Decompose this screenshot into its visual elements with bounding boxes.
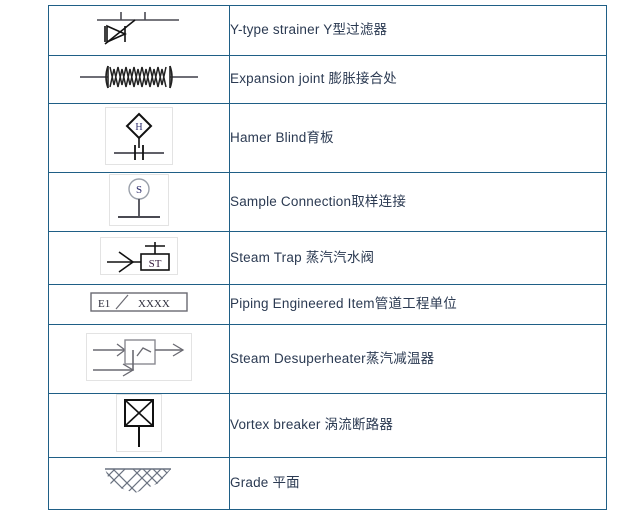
table-row[interactable]: Grade 平面: [49, 458, 607, 510]
row-description: Sample Connection取样连接: [230, 193, 406, 211]
description-cell: Steam Desuperheater蒸汽减温器: [230, 325, 607, 394]
description-cell: Grade 平面: [230, 458, 607, 510]
hamer-blind-symbol: H: [105, 107, 173, 165]
piping-item-label-1: E1: [98, 298, 110, 310]
table-row[interactable]: Y-type strainer Y型过滤器: [49, 6, 607, 56]
row-description: Vortex breaker 涡流断路器: [230, 416, 393, 434]
table-row[interactable]: Expansion joint 膨胀接合处: [49, 56, 607, 104]
symbol-cell: [49, 458, 230, 510]
description-cell: Sample Connection取样连接: [230, 173, 607, 232]
symbol-cell: [49, 394, 230, 458]
grade-symbol: [101, 463, 177, 499]
row-description: Steam Trap 蒸汽汽水阀: [230, 249, 374, 267]
table-row[interactable]: ST Steam Trap 蒸汽汽水阀: [49, 232, 607, 285]
row-description: Expansion joint 膨胀接合处: [230, 70, 397, 88]
legend-table-body: Y-type strainer Y型过滤器: [49, 6, 607, 510]
symbol-cell: [49, 56, 230, 104]
sample-connection-symbol: S: [109, 174, 169, 226]
sample-connection-label: S: [136, 184, 142, 196]
table-row[interactable]: Steam Desuperheater蒸汽减温器: [49, 325, 607, 394]
table-row[interactable]: Vortex breaker 涡流断路器: [49, 394, 607, 458]
description-cell: Hamer Blind育板: [230, 104, 607, 173]
steam-desuperheater-symbol: [86, 333, 192, 381]
symbol-cell: [49, 6, 230, 56]
table-row[interactable]: E1 XXXX Piping Engineered Item管道工程单位: [49, 285, 607, 325]
row-description: Y-type strainer Y型过滤器: [230, 21, 387, 39]
y-type-strainer-symbol: [83, 6, 195, 50]
steam-trap-label: ST: [149, 258, 162, 270]
symbol-cell: S: [49, 173, 230, 232]
piping-item-label-2: XXXX: [138, 298, 170, 310]
vortex-breaker-symbol: [116, 394, 162, 452]
symbol-cell: E1 XXXX: [49, 285, 230, 325]
symbol-cell: H: [49, 104, 230, 173]
description-cell: Vortex breaker 涡流断路器: [230, 394, 607, 458]
description-cell: Expansion joint 膨胀接合处: [230, 56, 607, 104]
steam-trap-symbol: ST: [100, 237, 178, 275]
table-row[interactable]: S Sample Connection取样连接: [49, 173, 607, 232]
description-cell: Steam Trap 蒸汽汽水阀: [230, 232, 607, 285]
expansion-joint-symbol: [74, 57, 204, 97]
description-cell: Y-type strainer Y型过滤器: [230, 6, 607, 56]
row-description: Steam Desuperheater蒸汽减温器: [230, 350, 434, 368]
table-row[interactable]: H Hamer Blind育板: [49, 104, 607, 173]
symbol-cell: [49, 325, 230, 394]
piping-engineered-item-symbol: E1 XXXX: [90, 291, 188, 313]
row-description: Piping Engineered Item管道工程单位: [230, 295, 457, 313]
legend-table: Y-type strainer Y型过滤器: [48, 5, 607, 510]
description-cell: Piping Engineered Item管道工程单位: [230, 285, 607, 325]
symbol-cell: ST: [49, 232, 230, 285]
hamer-blind-label: H: [135, 122, 142, 133]
row-description: Grade 平面: [230, 474, 300, 492]
row-description: Hamer Blind育板: [230, 129, 334, 147]
